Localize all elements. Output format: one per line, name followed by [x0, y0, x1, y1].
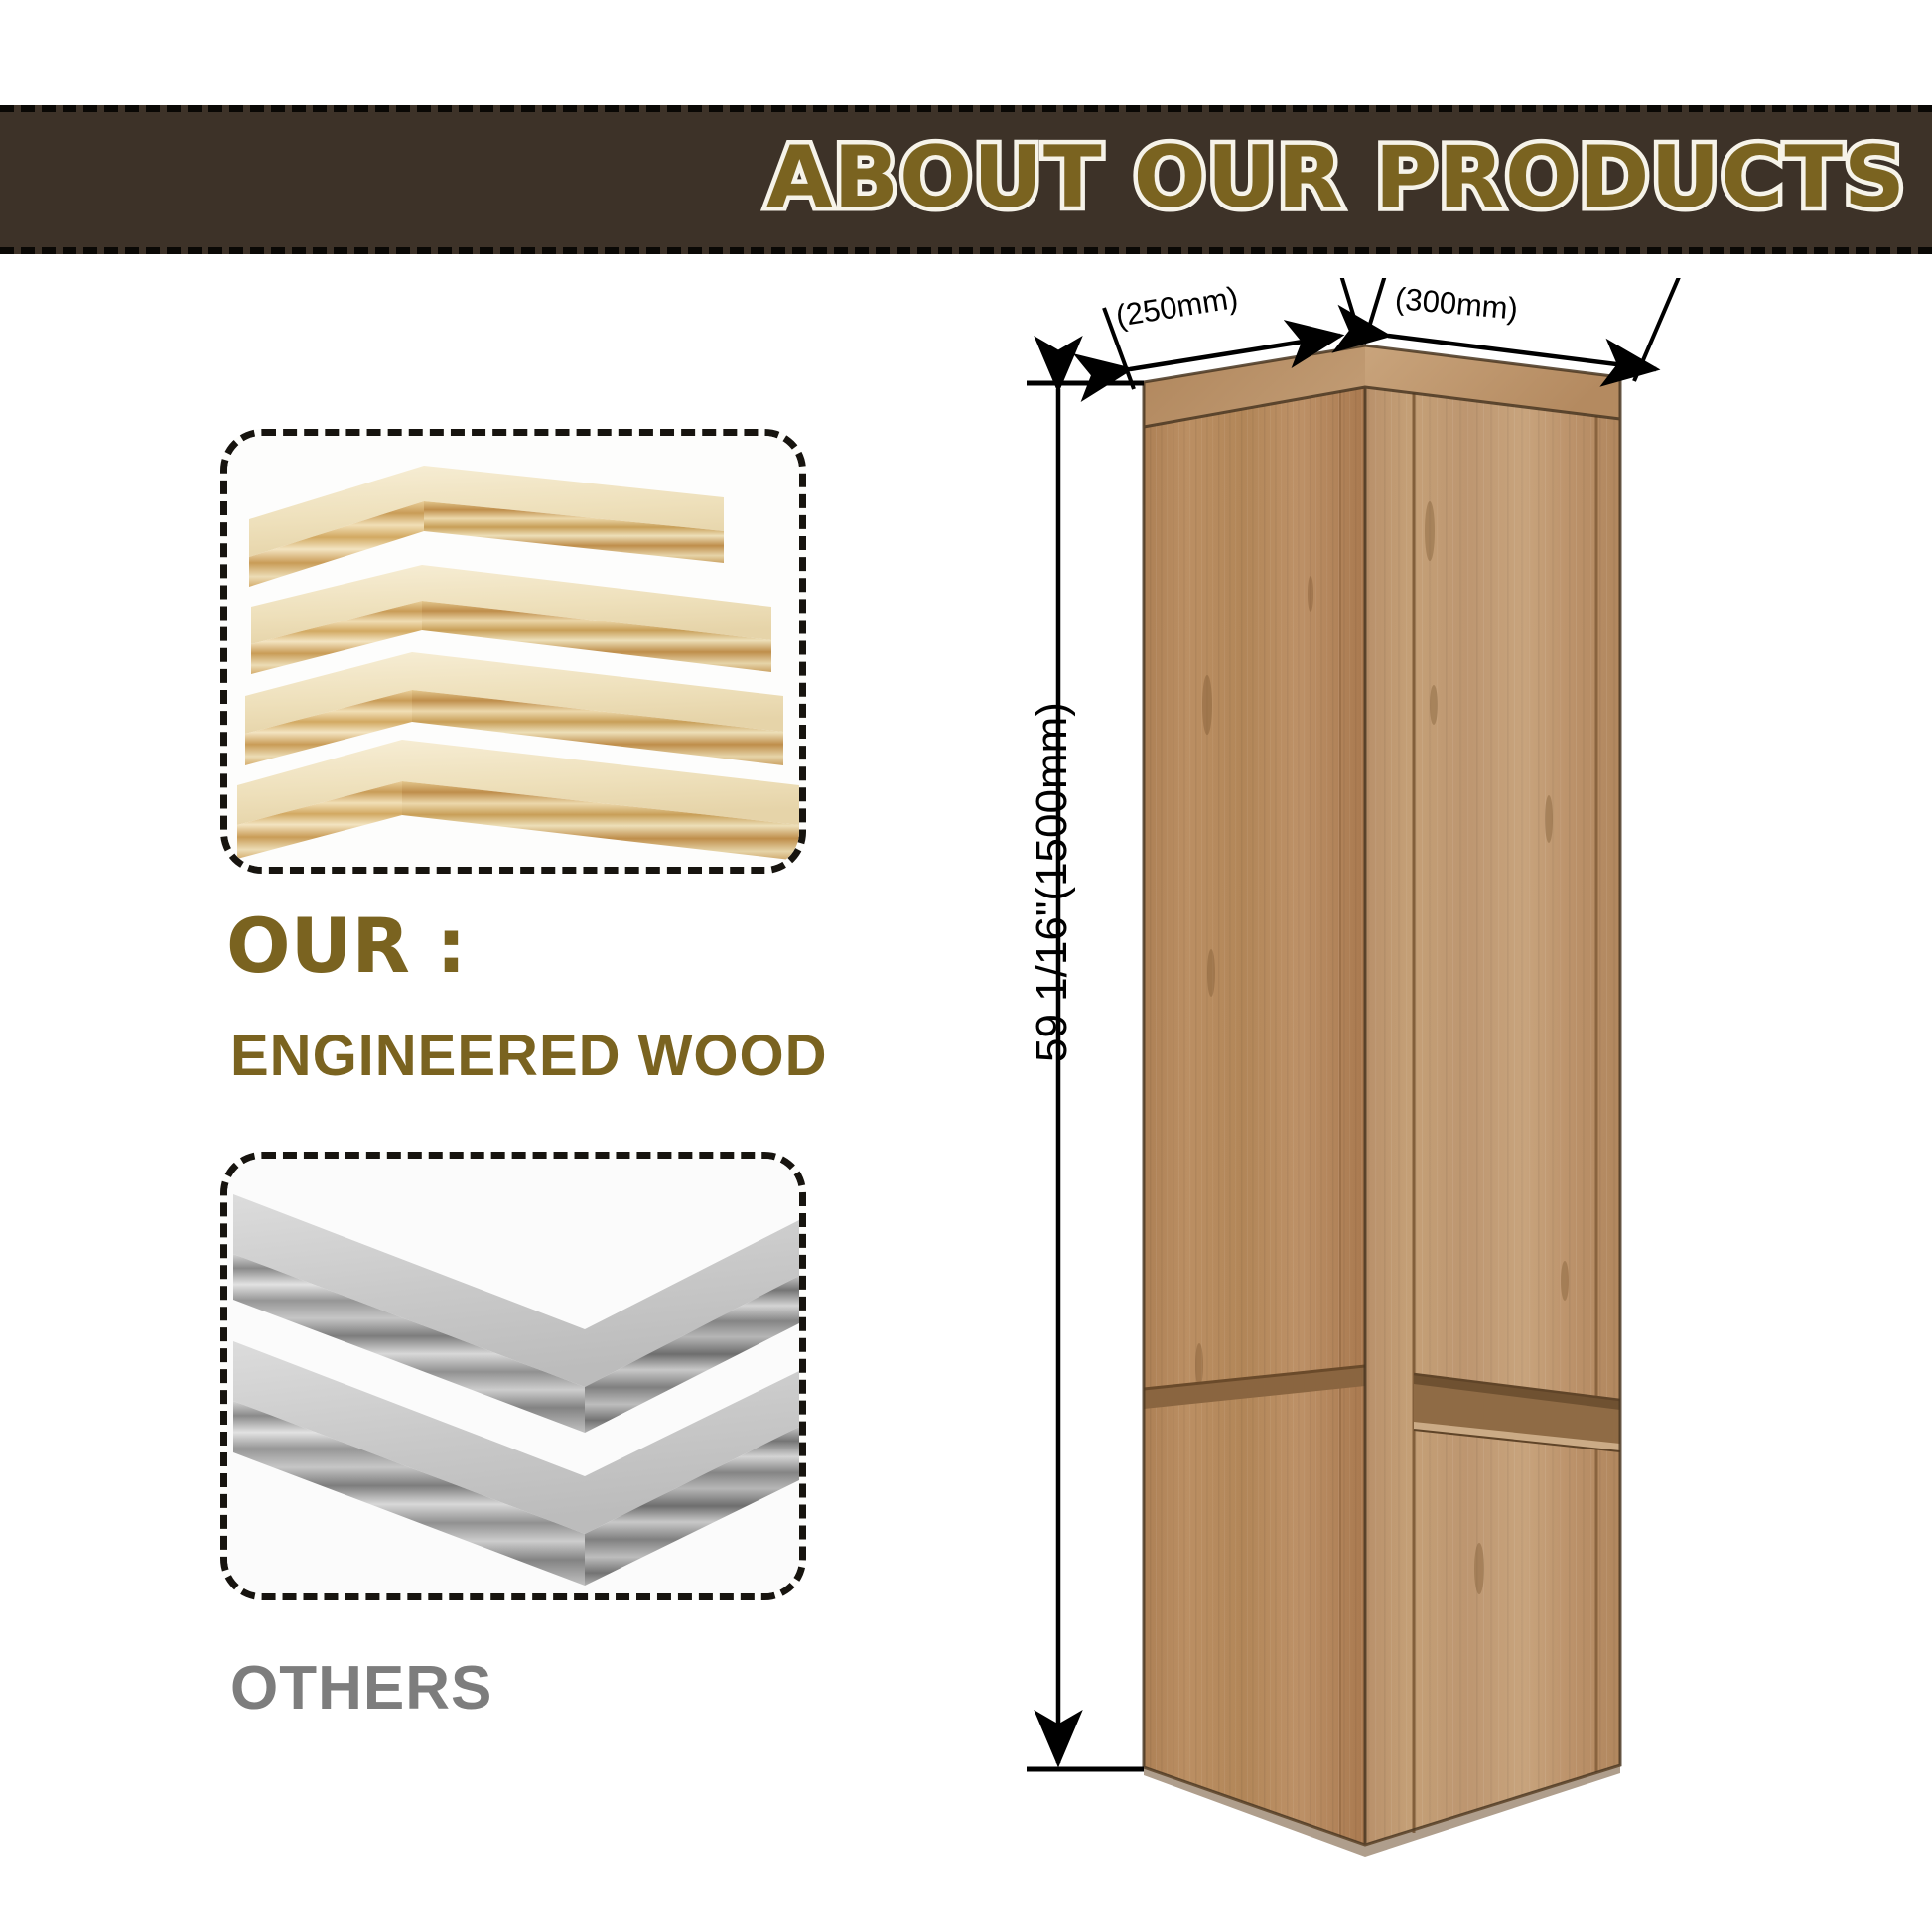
plywood-svg [227, 436, 799, 867]
page-header-banner: ABOUT OUR PRODUCTS [0, 105, 1932, 254]
product-dimension-diagram: 9 13/16" (250mm) 11 13/16" (300mm) [1013, 278, 1926, 1926]
height-dimension [1027, 383, 1144, 1769]
width-imperial-label: 11 13/16" [1410, 278, 1541, 280]
width-dimension-labels: 11 13/16" (300mm) [1394, 278, 1541, 328]
height-dimension-label: 59 1/16"(1500mm) [1028, 702, 1077, 1062]
others-label: OTHERS [230, 1653, 492, 1724]
ours-material-photo [220, 429, 806, 874]
plywood-stack-illustration [227, 436, 799, 867]
page-title: ABOUT OUR PRODUCTS [766, 128, 1906, 227]
cabinet-3d [1144, 345, 1620, 1857]
depth-metric-label: (250mm) [1113, 280, 1240, 334]
particleboard-svg [227, 1159, 799, 1593]
ours-material-label: ENGINEERED WOOD [230, 1023, 828, 1089]
particleboard-stack-illustration [227, 1159, 799, 1593]
others-material-photo [220, 1152, 806, 1600]
ours-prefix-label: OUR : [226, 901, 467, 990]
depth-dimension-labels: 9 13/16" (250mm) [1106, 278, 1241, 334]
width-metric-label: (300mm) [1394, 281, 1520, 327]
